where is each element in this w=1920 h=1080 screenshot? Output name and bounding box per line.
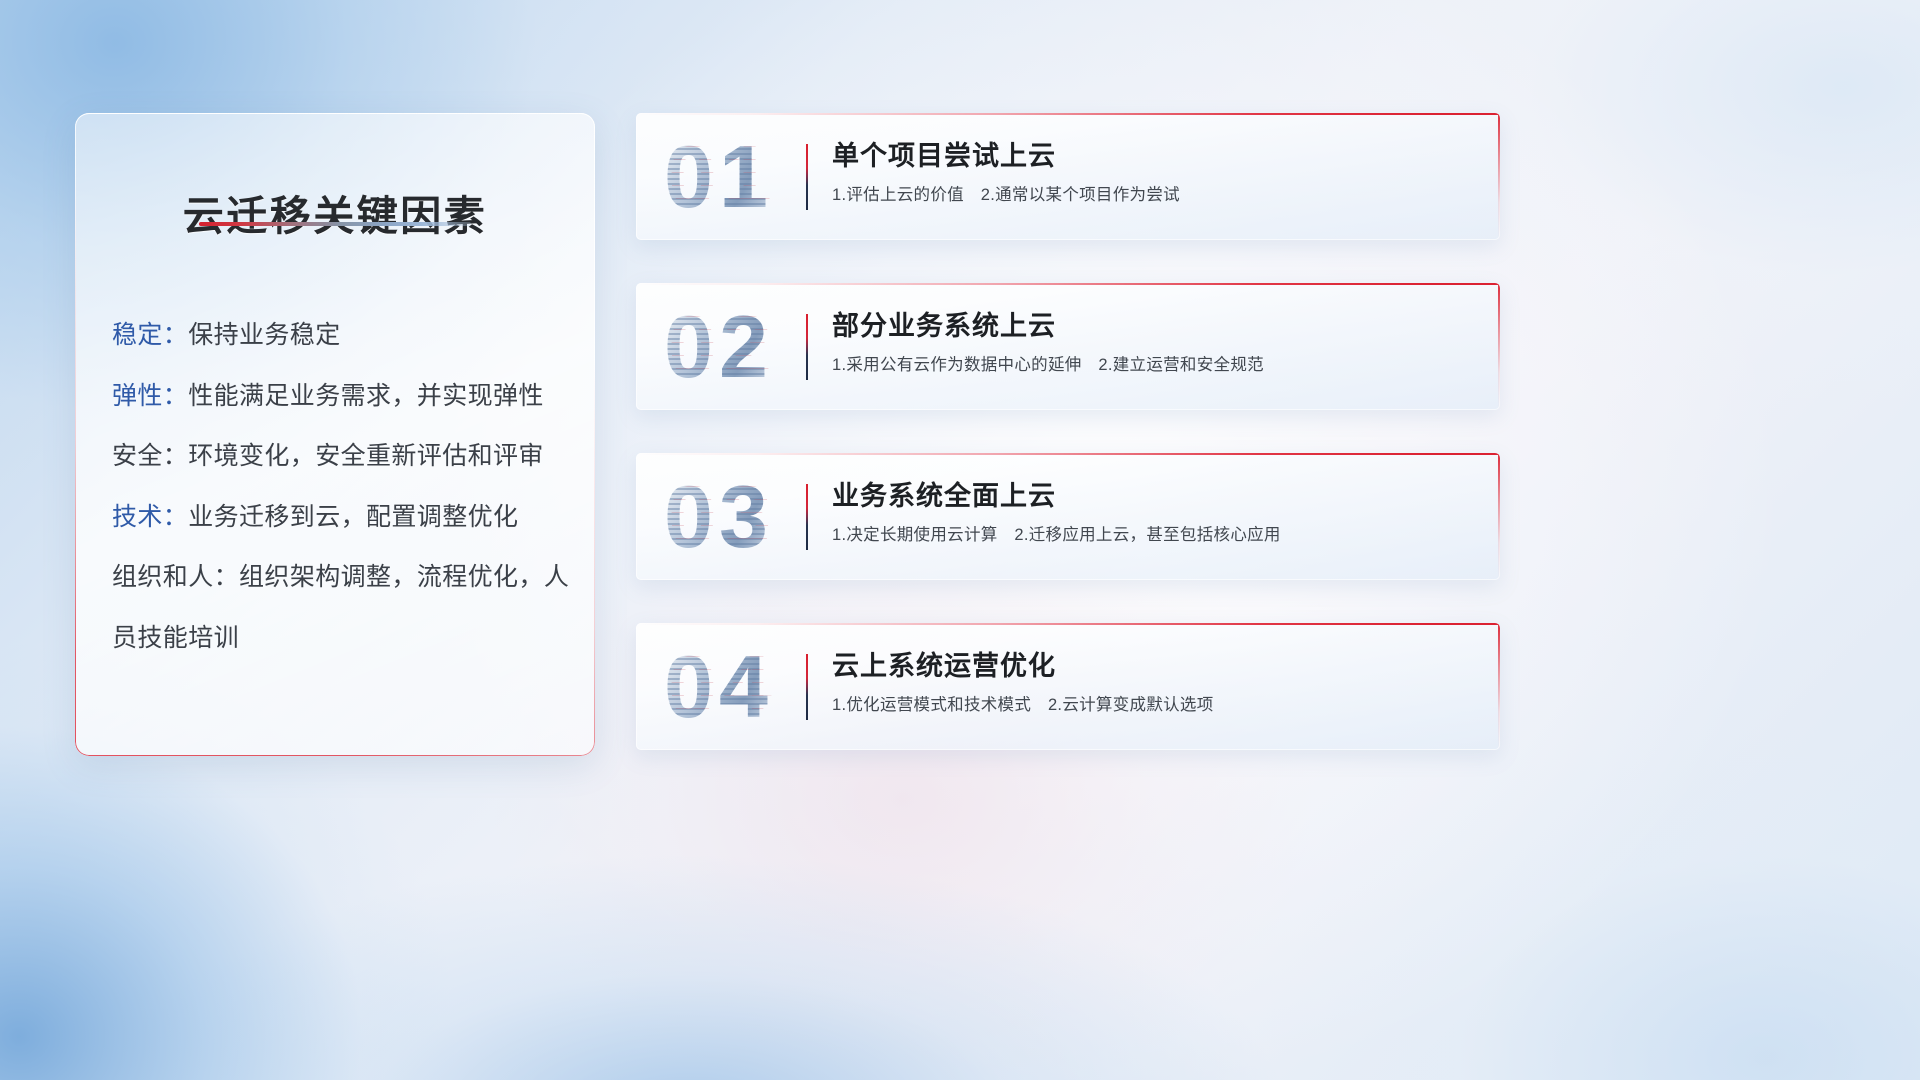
list-item-text: 环境变化，安全重新评估和评审 bbox=[188, 442, 544, 470]
stage-title: 云上系统运营优化 bbox=[832, 650, 1474, 684]
stage-title: 业务系统全面上云 bbox=[832, 480, 1474, 514]
key-factors-panel: 云迁移关键因素 稳定：保持业务稳定 弹性：性能满足业务需求，并实现弹性 安全：环… bbox=[75, 113, 595, 756]
list-item: 技术：业务迁移到云，配置调整优化 bbox=[112, 487, 571, 548]
key-factors-list: 稳定：保持业务稳定 弹性：性能满足业务需求，并实现弹性 安全：环境变化，安全重新… bbox=[112, 305, 571, 668]
stage-divider bbox=[806, 314, 808, 380]
stage-card[interactable]: 03 03 业务系统全面上云 1.决定长期使用云计算 2.迁移应用上云，甚至包括… bbox=[636, 453, 1500, 580]
stage-divider bbox=[806, 654, 808, 720]
list-item: 组织和人：组织架构调整，流程优化，人员技能培训 bbox=[112, 547, 571, 668]
stage-card-body: 单个项目尝试上云 1.评估上云的价值 2.通常以某个项目作为尝试 bbox=[832, 140, 1474, 206]
stage-card[interactable]: 02 02 部分业务系统上云 1.采用公有云作为数据中心的延伸 2.建立运营和安… bbox=[636, 283, 1500, 410]
list-item: 安全：环境变化，安全重新评估和评审 bbox=[112, 426, 571, 487]
stage-card-body: 业务系统全面上云 1.决定长期使用云计算 2.迁移应用上云，甚至包括核心应用 bbox=[832, 480, 1474, 546]
list-item-label: 组织和人： bbox=[112, 563, 239, 591]
list-item-label: 稳定： bbox=[112, 321, 188, 349]
list-item: 弹性：性能满足业务需求，并实现弹性 bbox=[112, 366, 571, 427]
migration-stage-card-list: 01 01 单个项目尝试上云 1.评估上云的价值 2.通常以某个项目作为尝试 0… bbox=[636, 113, 1500, 793]
stage-number-04: 04 bbox=[664, 643, 774, 731]
stage-title: 单个项目尝试上云 bbox=[832, 140, 1474, 174]
page-title: 云迁移关键因素 bbox=[75, 182, 595, 242]
stage-card[interactable]: 04 04 云上系统运营优化 1.优化运营模式和技术模式 2.云计算变成默认选项 bbox=[636, 623, 1500, 750]
list-item: 稳定：保持业务稳定 bbox=[112, 305, 571, 366]
stage-card-body: 云上系统运营优化 1.优化运营模式和技术模式 2.云计算变成默认选项 bbox=[832, 650, 1474, 716]
stage-card[interactable]: 01 01 单个项目尝试上云 1.评估上云的价值 2.通常以某个项目作为尝试 bbox=[636, 113, 1500, 240]
list-item-text: 性能满足业务需求，并实现弹性 bbox=[188, 382, 544, 410]
list-item-label: 技术： bbox=[112, 503, 188, 531]
list-item-text: 保持业务稳定 bbox=[188, 321, 340, 349]
stage-card-body: 部分业务系统上云 1.采用公有云作为数据中心的延伸 2.建立运营和安全规范 bbox=[832, 310, 1474, 376]
stage-description: 1.优化运营模式和技术模式 2.云计算变成默认选项 bbox=[832, 695, 1474, 716]
title-underline-rule bbox=[199, 222, 471, 226]
list-item-text: 业务迁移到云，配置调整优化 bbox=[188, 503, 518, 531]
stage-title: 部分业务系统上云 bbox=[832, 310, 1474, 344]
stage-description: 1.决定长期使用云计算 2.迁移应用上云，甚至包括核心应用 bbox=[832, 525, 1474, 546]
list-item-label: 弹性： bbox=[112, 382, 188, 410]
slide-canvas: 云迁移关键因素 稳定：保持业务稳定 弹性：性能满足业务需求，并实现弹性 安全：环… bbox=[0, 0, 1920, 1080]
stage-description: 1.评估上云的价值 2.通常以某个项目作为尝试 bbox=[832, 185, 1474, 206]
stage-description: 1.采用公有云作为数据中心的延伸 2.建立运营和安全规范 bbox=[832, 355, 1474, 376]
stage-number-02: 02 bbox=[664, 303, 774, 391]
list-item-label: 安全： bbox=[112, 442, 188, 470]
stage-divider bbox=[806, 144, 808, 210]
stage-number-03: 03 bbox=[664, 473, 774, 561]
stage-divider bbox=[806, 484, 808, 550]
stage-number-01: 01 bbox=[664, 133, 774, 221]
